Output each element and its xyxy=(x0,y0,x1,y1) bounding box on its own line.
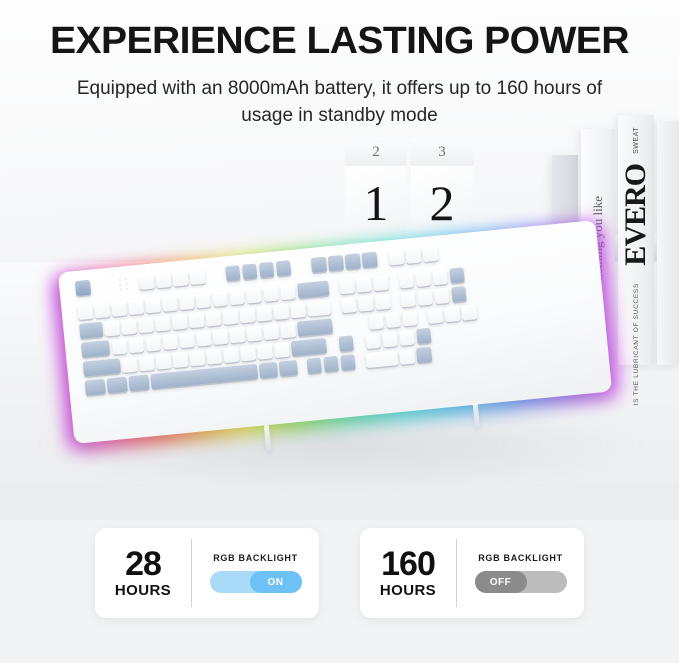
keycap[interactable] xyxy=(104,320,120,336)
keycap[interactable] xyxy=(179,332,195,348)
keycap[interactable] xyxy=(128,299,144,315)
keycap[interactable] xyxy=(356,276,372,292)
keycap[interactable] xyxy=(223,308,239,324)
keycap[interactable] xyxy=(402,310,418,326)
keycap[interactable] xyxy=(375,294,391,310)
keycap[interactable] xyxy=(297,318,333,336)
stat-card-toggle-group-2: RGB BACKLIGHT OFF xyxy=(457,528,584,618)
keycap[interactable] xyxy=(280,322,296,338)
stat-card-value-group-2: 160 HOURS xyxy=(360,528,456,618)
keycap[interactable] xyxy=(341,297,357,313)
keycap[interactable] xyxy=(259,362,278,379)
keycap[interactable] xyxy=(263,324,279,340)
keycap[interactable] xyxy=(94,302,110,318)
book-spine-plain xyxy=(657,121,679,365)
keycap[interactable] xyxy=(172,313,188,329)
keycap[interactable] xyxy=(279,360,298,377)
keycap[interactable] xyxy=(145,297,161,313)
keycap[interactable] xyxy=(81,340,111,358)
keycap[interactable] xyxy=(206,348,222,364)
keycap[interactable] xyxy=(444,306,460,322)
keycap[interactable] xyxy=(257,343,273,359)
keycap[interactable] xyxy=(77,304,93,320)
keycap[interactable] xyxy=(385,312,401,328)
keyboard-body: Esc xyxy=(58,220,612,444)
keycap[interactable] xyxy=(196,330,212,346)
stat-hours-unit-2: HOURS xyxy=(380,582,436,599)
keycap[interactable] xyxy=(139,274,155,290)
keycap[interactable] xyxy=(328,255,344,271)
keycap[interactable] xyxy=(240,345,256,361)
keycap[interactable] xyxy=(111,338,127,354)
keycap[interactable] xyxy=(274,342,290,358)
keycap[interactable] xyxy=(242,263,258,279)
keycap[interactable] xyxy=(206,310,222,326)
keycap[interactable] xyxy=(340,354,356,370)
page-subtitle: Equipped with an 8000mAh battery, it off… xyxy=(0,76,679,130)
rgb-backlight-label-2: RGB BACKLIGHT xyxy=(478,553,563,563)
keycap[interactable] xyxy=(291,338,327,356)
keycap[interactable] xyxy=(416,328,432,344)
book-top-text-3: SWEAT xyxy=(633,127,640,154)
keycap[interactable] xyxy=(189,269,205,285)
keycap[interactable] xyxy=(382,331,398,347)
keycap[interactable] xyxy=(273,304,289,320)
keycap[interactable] xyxy=(461,304,477,320)
keycap[interactable] xyxy=(398,272,414,288)
keycap[interactable] xyxy=(122,357,138,373)
keyboard-keycap-deck: Esc xyxy=(75,230,595,429)
keycap[interactable] xyxy=(111,300,127,316)
keycap[interactable] xyxy=(128,337,144,353)
keycap[interactable] xyxy=(263,285,279,301)
keycap[interactable] xyxy=(172,352,188,368)
keycap[interactable] xyxy=(280,284,296,300)
calendar-top-left-number: 2 xyxy=(345,138,407,166)
stat-card-rgb-on: 28 HOURS RGB BACKLIGHT ON xyxy=(95,528,319,618)
keycap[interactable] xyxy=(139,355,155,371)
keycap[interactable] xyxy=(247,325,263,341)
keycap[interactable] xyxy=(389,249,405,265)
keycap[interactable] xyxy=(417,289,433,305)
keycap[interactable] xyxy=(229,289,245,305)
stat-card-rgb-off: 160 HOURS RGB BACKLIGHT OFF xyxy=(360,528,584,618)
keycap[interactable] xyxy=(338,335,354,351)
rgb-backlight-toggle-off[interactable]: OFF xyxy=(475,571,567,593)
keycap[interactable] xyxy=(373,275,389,291)
keycap[interactable]: Esc xyxy=(75,280,91,296)
keycap[interactable] xyxy=(189,312,205,328)
page-title: EXPERIENCE LASTING POWER xyxy=(0,22,679,62)
keycap[interactable] xyxy=(240,307,256,323)
keycap[interactable] xyxy=(223,347,239,363)
keycap[interactable] xyxy=(155,272,171,288)
battery-stat-cards: 28 HOURS RGB BACKLIGHT ON 160 HOURS RGB … xyxy=(0,528,679,618)
keycap[interactable] xyxy=(400,291,416,307)
keycap[interactable] xyxy=(449,267,465,283)
keycap[interactable] xyxy=(422,246,438,262)
rgb-backlight-toggle-on[interactable]: ON xyxy=(210,571,302,593)
stat-hours-number-1: 28 xyxy=(125,547,161,581)
indicator-leds xyxy=(119,277,136,292)
book-title-3: EVERO xyxy=(619,164,653,266)
keycap[interactable] xyxy=(399,348,415,364)
toggle-knob-2[interactable]: OFF xyxy=(475,571,527,593)
keycap[interactable] xyxy=(155,353,171,369)
keycap[interactable] xyxy=(195,292,211,308)
keycap[interactable] xyxy=(365,350,398,368)
keycap[interactable] xyxy=(162,334,178,350)
keycap[interactable] xyxy=(399,329,415,345)
keycap[interactable] xyxy=(246,287,262,303)
keycap[interactable] xyxy=(212,290,228,306)
keycap[interactable] xyxy=(189,350,205,366)
keycap[interactable] xyxy=(275,260,291,276)
keycap[interactable] xyxy=(172,270,188,286)
rgb-backlight-label-1: RGB BACKLIGHT xyxy=(213,553,298,563)
keycap[interactable] xyxy=(257,305,273,321)
keycap[interactable] xyxy=(121,318,137,334)
stat-hours-unit-1: HOURS xyxy=(115,582,171,599)
toggle-knob-1[interactable]: ON xyxy=(250,571,302,593)
keycap[interactable] xyxy=(406,247,422,263)
keycap[interactable] xyxy=(432,269,448,285)
calendar-top-right-number: 3 xyxy=(411,138,473,166)
keycap[interactable] xyxy=(83,358,121,377)
keycap[interactable] xyxy=(107,377,128,394)
keycap[interactable] xyxy=(427,307,443,323)
keycap[interactable] xyxy=(365,333,381,349)
keycap[interactable] xyxy=(297,280,330,298)
keycap[interactable] xyxy=(345,253,361,269)
keycap[interactable] xyxy=(416,347,432,363)
book-subtitle-3: IS THE LUBRICANT OF SUCCESS xyxy=(633,283,640,405)
keycap[interactable] xyxy=(85,379,106,396)
stat-card-toggle-group-1: RGB BACKLIGHT ON xyxy=(192,528,319,618)
keycap[interactable] xyxy=(230,327,246,343)
keycap[interactable] xyxy=(434,288,450,304)
keycap[interactable] xyxy=(415,271,431,287)
keycap[interactable] xyxy=(162,295,178,311)
book-spine-evero: SWEAT EVERO IS THE LUBRICANT OF SUCCESS xyxy=(618,115,654,365)
keycap[interactable] xyxy=(79,322,103,339)
keycap[interactable] xyxy=(155,315,171,331)
keycap[interactable] xyxy=(339,278,355,294)
keycap[interactable] xyxy=(307,299,331,316)
keycap[interactable] xyxy=(129,374,150,391)
keycap[interactable] xyxy=(306,358,322,374)
keycap[interactable] xyxy=(225,265,241,281)
keycap[interactable] xyxy=(323,356,339,372)
keycap[interactable] xyxy=(290,302,306,318)
keycap[interactable] xyxy=(311,257,327,273)
keycap[interactable] xyxy=(368,313,384,329)
stat-hours-number-2: 160 xyxy=(381,547,435,581)
keycap[interactable] xyxy=(138,317,154,333)
keycap[interactable] xyxy=(259,262,275,278)
keycap[interactable] xyxy=(179,294,195,310)
keycap[interactable] xyxy=(358,295,374,311)
keycap[interactable] xyxy=(213,329,229,345)
keycap[interactable] xyxy=(145,335,161,351)
stat-card-value-group-1: 28 HOURS xyxy=(95,528,191,618)
keycap[interactable] xyxy=(451,286,467,302)
keycap[interactable] xyxy=(362,252,378,268)
